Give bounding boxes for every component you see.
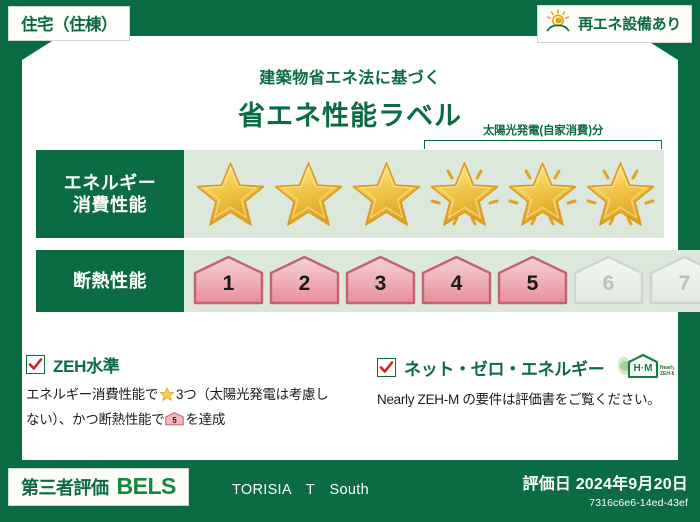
note-nze-body: Nearly ZEH-M の要件は評価書をご覧ください。 xyxy=(377,389,662,411)
insulation-row-label: 断熱性能 xyxy=(36,250,184,312)
note-zeh-title: ZEH水準 xyxy=(53,352,120,377)
note-nze-title: ネット・ゼロ・エネルギー xyxy=(404,355,604,380)
note-nze-header: ネット・ゼロ・エネルギー H·M Nearly ZEH-M xyxy=(377,352,662,382)
note-zeh-body-part1: エネルギー消費性能で xyxy=(26,387,158,402)
energy-performance-label: 住宅（住棟） 再エネ設備あり 建築物省エネ法に基づく 省エネ性能ラベル xyxy=(0,0,700,522)
note-net-zero-energy: ネット・ゼロ・エネルギー H·M Nearly ZEH-M Nearly ZEH… xyxy=(351,352,676,434)
title-subtitle: 建築物省エネ法に基づく xyxy=(0,64,700,88)
energy-performance-row: エネルギー 消費性能 太陽光発電(自家消費)分 xyxy=(36,150,664,238)
checkmark-icon-zeh xyxy=(26,355,45,374)
renewable-equipment-badge: 再エネ設備あり xyxy=(537,5,692,43)
energy-label-line1: エネルギー xyxy=(64,172,157,195)
insulation-grade-7: 7 xyxy=(648,255,700,307)
evaluation-date: 評価日 2024年9月20日 xyxy=(522,470,688,494)
insulation-grade-6: 6 xyxy=(572,255,645,307)
notes-section: ZEH水準 エネルギー消費性能で3つ（太陽光発電は考慮しない）、かつ断熱性能で5… xyxy=(26,352,676,434)
star-1 xyxy=(192,157,269,231)
star-3 xyxy=(348,157,425,231)
bels-jp-label: 第三者評価 xyxy=(21,474,109,500)
energy-performance-row-label: エネルギー 消費性能 xyxy=(36,150,184,238)
insulation-grade-4: 4 xyxy=(420,255,493,307)
nearly-zeh-m-logo: H·M Nearly ZEH-M xyxy=(616,352,674,382)
star-4-solar xyxy=(426,157,503,231)
note-zeh-standard: ZEH水準 エネルギー消費性能で3つ（太陽光発電は考慮しない）、かつ断熱性能で5… xyxy=(26,352,351,434)
sun-over-horizon-icon xyxy=(545,9,571,38)
house-badge-icon-inline: 5 xyxy=(165,411,184,434)
note-zeh-header: ZEH水準 xyxy=(26,352,337,377)
solar-generation-annotation: 太陽光発電(自家消費)分 xyxy=(424,122,662,149)
solar-annotation-bracket xyxy=(424,140,662,149)
metric-rows: エネルギー 消費性能 太陽光発電(自家消費)分 xyxy=(36,150,664,312)
building-type-tag: 住宅（住棟） xyxy=(8,6,130,41)
energy-performance-row-body: 太陽光発電(自家消費)分 xyxy=(184,150,664,238)
svg-text:ZEH-M: ZEH-M xyxy=(660,371,674,377)
star-5-solar xyxy=(504,157,581,231)
star-6-solar xyxy=(582,157,659,231)
energy-label-line2: 消費性能 xyxy=(73,194,147,217)
insulation-grade-5-achieved: 5 xyxy=(496,255,569,307)
insulation-performance-row: 断熱性能 1 xyxy=(36,250,664,312)
bels-certification-box: 第三者評価 BELS xyxy=(8,468,189,506)
building-name: TORISIA T South xyxy=(232,478,369,499)
star-icon-inline xyxy=(159,386,175,409)
bels-en-label: BELS xyxy=(117,473,176,500)
evaluation-id: 7316c6e6-14ed-43ef xyxy=(522,497,688,509)
building-type-label: 住宅（住棟） xyxy=(21,16,117,34)
solar-annotation-label: 太陽光発電(自家消費)分 xyxy=(424,122,662,138)
insulation-label: 断熱性能 xyxy=(73,270,147,293)
svg-text:H·M: H·M xyxy=(634,363,653,374)
insulation-grade-3: 3 xyxy=(344,255,417,307)
checkmark-icon-nze xyxy=(377,358,396,377)
star-2 xyxy=(270,157,347,231)
svg-text:5: 5 xyxy=(173,416,178,425)
insulation-grade-scale: 1 2 3 xyxy=(184,255,700,307)
star-rating xyxy=(184,157,659,231)
insulation-grade-2: 2 xyxy=(268,255,341,307)
insulation-row-body: 1 2 3 xyxy=(184,250,700,312)
renewable-badge-label: 再エネ設備あり xyxy=(578,13,681,34)
note-zeh-body: エネルギー消費性能で3つ（太陽光発電は考慮しない）、かつ断熱性能で5を達成 xyxy=(26,384,337,434)
evaluation-info: 評価日 2024年9月20日 7316c6e6-14ed-43ef xyxy=(522,470,688,509)
footer: 第三者評価 BELS TORISIA T South 評価日 2024年9月20… xyxy=(0,460,700,522)
insulation-grade-1: 1 xyxy=(192,255,265,307)
note-zeh-body-part3: を達成 xyxy=(185,412,225,427)
